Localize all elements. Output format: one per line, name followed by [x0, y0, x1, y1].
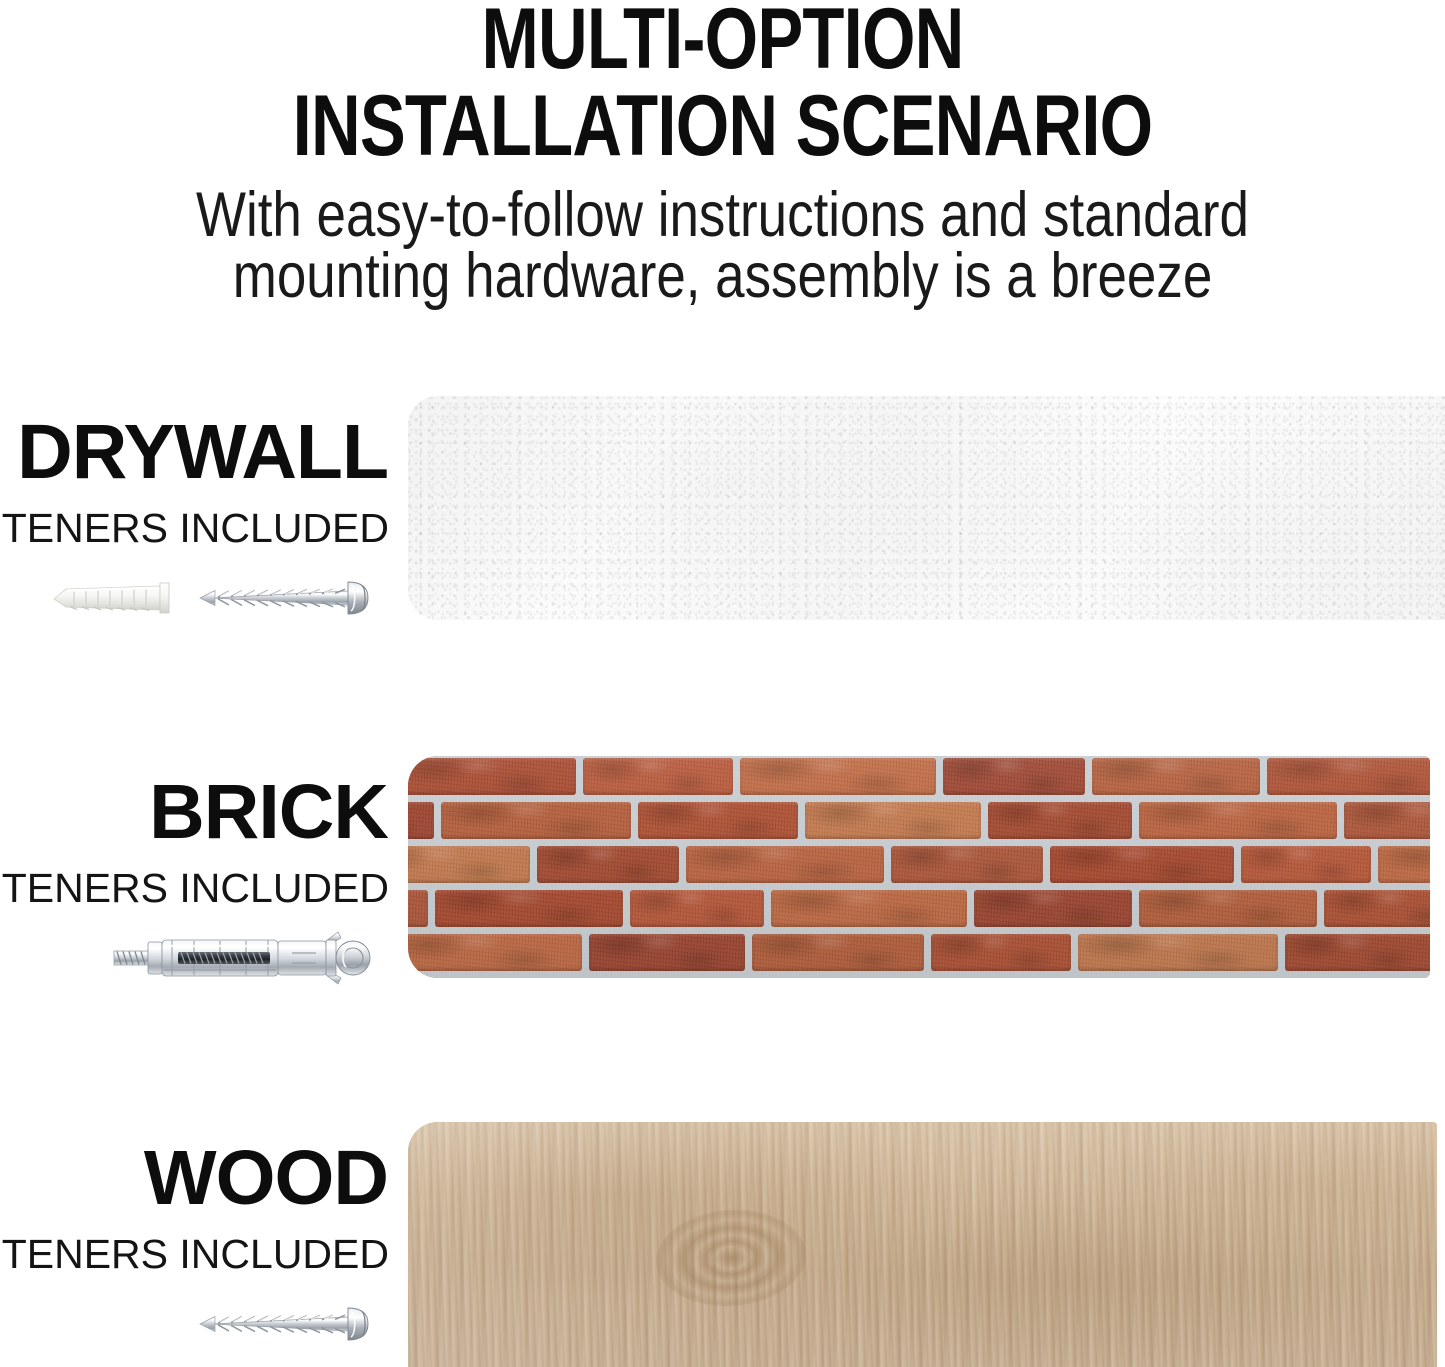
brick-shading: [408, 756, 1430, 978]
material-title-drywall: DRYWALL: [17, 414, 388, 491]
section-drywall: DRYWALL FASTENERS INCLUDED: [0, 396, 1445, 636]
material-title-brick: BRICK: [149, 774, 388, 851]
page-title-line-2: INSTALLATION SCENARIO: [145, 83, 1301, 169]
page-title-line-1: MULTI-OPTION: [145, 0, 1301, 82]
pan-head-screw-icon: [196, 576, 382, 620]
fasteners-included-label-drywall: FASTENERS INCLUDED: [0, 508, 389, 549]
drywall-surface-panel: [408, 396, 1445, 620]
fasteners-included-label-wood: FASTENERS INCLUDED: [0, 1234, 389, 1275]
fasteners-included-label-brick: FASTENERS INCLUDED: [0, 868, 389, 909]
brick-hardware-row: [110, 928, 382, 988]
section-wood: WOOD FASTENERS INCLUDED: [0, 1122, 1445, 1367]
molly-bolt-anchor-icon: [110, 928, 382, 988]
section-brick: BRICK FASTENERS INCLUDED: [0, 756, 1445, 996]
drywall-shading: [408, 396, 1445, 620]
wood-label-column: WOOD FASTENERS INCLUDED: [0, 1122, 390, 1367]
wood-hardware-row: [196, 1294, 382, 1354]
wood-screw-icon: [196, 1302, 382, 1346]
drywall-hardware-row: [48, 568, 382, 628]
subtitle-line-1: With easy-to-follow instructions and sta…: [116, 184, 1330, 247]
brick-label-column: BRICK FASTENERS INCLUDED: [0, 756, 390, 996]
brick-surface-panel: [408, 756, 1430, 978]
drywall-label-column: DRYWALL FASTENERS INCLUDED: [0, 396, 390, 636]
material-title-wood: WOOD: [144, 1140, 388, 1217]
wood-shading: [408, 1122, 1437, 1367]
plastic-wall-anchor-icon: [48, 576, 178, 620]
header: MULTI-OPTION INSTALLATION SCENARIO With …: [0, 0, 1445, 330]
subtitle-line-2: mounting hardware, assembly is a breeze: [116, 245, 1330, 308]
wood-surface-panel: [408, 1122, 1437, 1367]
